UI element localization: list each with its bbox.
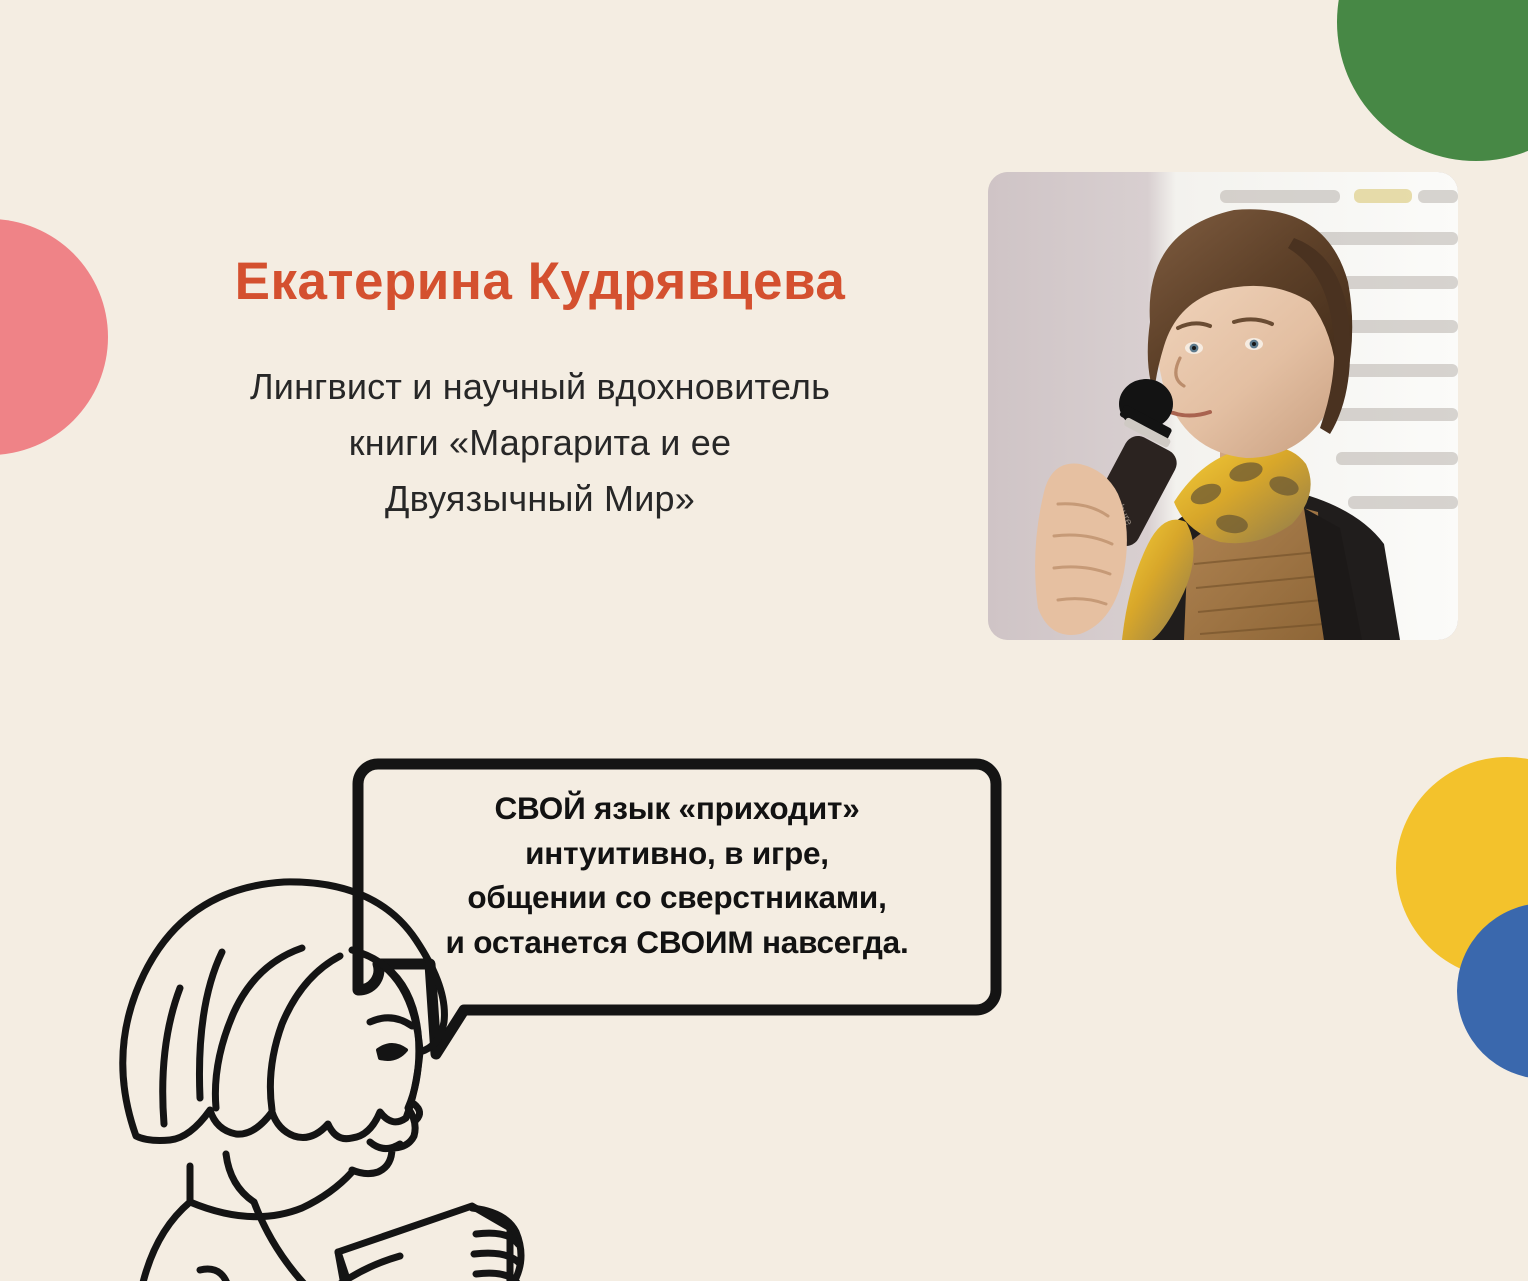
yellow-circle-decoration: [1396, 757, 1528, 979]
speaker-name: Екатерина Кудрявцева: [120, 252, 960, 311]
slide-canvas: Екатерина Кудрявцева Лингвист и научный …: [0, 0, 1528, 1281]
blue-circle-decoration: [1457, 903, 1528, 1079]
girl-illustration: [40, 836, 540, 1281]
speaker-photo: shure: [988, 172, 1458, 640]
bubble-line-1: СВОЙ язык «приходит»: [378, 786, 976, 831]
pink-circle-decoration: [0, 219, 108, 455]
speaker-role: Лингвист и научный вдохновитель книги «М…: [120, 359, 960, 526]
speaker-role-line-2: книги «Маргарита и ее: [349, 422, 731, 463]
green-circle-decoration: [1337, 0, 1528, 161]
speaker-role-line-1: Лингвист и научный вдохновитель: [250, 366, 830, 407]
speaker-role-line-3: Двуязычный Мир»: [385, 478, 695, 519]
speaker-text-block: Екатерина Кудрявцева Лингвист и научный …: [120, 252, 960, 527]
